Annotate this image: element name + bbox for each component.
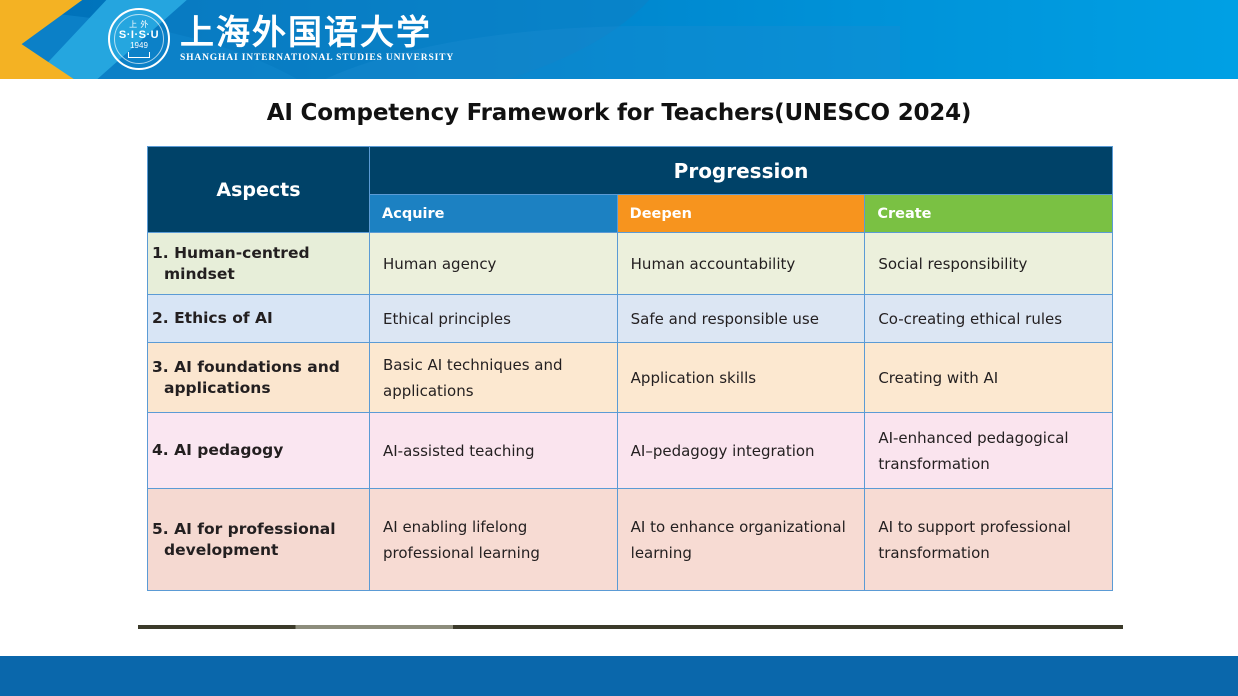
header-aspects: Aspects: [148, 147, 370, 233]
table-header-row-top: Aspects Progression: [148, 147, 1113, 195]
table-row: 2. Ethics of AI Ethical principles Safe …: [148, 295, 1113, 343]
seal-book-icon: [128, 52, 150, 58]
slide-canvas: 上 外 S·I·S·U 1949 上海外国语大学 SHANGHAI INTERN…: [0, 0, 1238, 696]
university-logo: 上 外 S·I·S·U 1949 上海外国语大学 SHANGHAI INTERN…: [108, 8, 454, 70]
header-level-create: Create: [865, 195, 1113, 233]
row-cell-deepen: Application skills: [617, 343, 865, 413]
framework-table-container: Aspects Progression Acquire Deepen Creat…: [147, 146, 1113, 591]
row-cell-acquire: Human agency: [370, 233, 618, 295]
row-cell-deepen: Human accountability: [617, 233, 865, 295]
row-aspect-label: 4. AI pedagogy: [148, 413, 370, 489]
page-title: AI Competency Framework for Teachers(UNE…: [0, 100, 1238, 126]
seal-top-text: 上 外: [129, 20, 149, 29]
university-name-cn: 上海外国语大学: [180, 14, 454, 52]
footer-bar: [0, 656, 1238, 696]
row-cell-deepen: AI–pedagogy integration: [617, 413, 865, 489]
table-row: 5. AI for professional development AI en…: [148, 489, 1113, 591]
row-cell-acquire: Basic AI techniques and applications: [370, 343, 618, 413]
header-level-deepen: Deepen: [617, 195, 865, 233]
header-level-acquire: Acquire: [370, 195, 618, 233]
university-name-en: SHANGHAI INTERNATIONAL STUDIES UNIVERSIT…: [180, 52, 454, 64]
table-row: 1. Human-centred mindset Human agency Hu…: [148, 233, 1113, 295]
top-banner: 上 外 S·I·S·U 1949 上海外国语大学 SHANGHAI INTERN…: [0, 0, 1238, 79]
row-cell-deepen: AI to enhance organizational learning: [617, 489, 865, 591]
university-name-block: 上海外国语大学 SHANGHAI INTERNATIONAL STUDIES U…: [180, 14, 454, 64]
row-cell-deepen: Safe and responsible use: [617, 295, 865, 343]
header-progression: Progression: [370, 147, 1113, 195]
row-cell-create: Creating with AI: [865, 343, 1113, 413]
university-seal-icon: 上 外 S·I·S·U 1949: [108, 8, 170, 70]
row-cell-create: AI to support professional transformatio…: [865, 489, 1113, 591]
framework-table: Aspects Progression Acquire Deepen Creat…: [147, 146, 1113, 591]
row-aspect-label: 1. Human-centred mindset: [148, 233, 370, 295]
row-cell-create: AI-enhanced pedagogical transformation: [865, 413, 1113, 489]
row-cell-acquire: AI enabling lifelong professional learni…: [370, 489, 618, 591]
decorative-rule: [138, 625, 1123, 629]
row-cell-acquire: AI-assisted teaching: [370, 413, 618, 489]
table-row: 4. AI pedagogy AI-assisted teaching AI–p…: [148, 413, 1113, 489]
row-aspect-label: 5. AI for professional development: [148, 489, 370, 591]
row-cell-create: Social responsibility: [865, 233, 1113, 295]
seal-mid-text: S·I·S·U: [119, 29, 159, 41]
row-aspect-label: 2. Ethics of AI: [148, 295, 370, 343]
seal-year-text: 1949: [130, 41, 148, 51]
row-cell-create: Co-creating ethical rules: [865, 295, 1113, 343]
table-row: 3. AI foundations and applications Basic…: [148, 343, 1113, 413]
row-aspect-label: 3. AI foundations and applications: [148, 343, 370, 413]
row-cell-acquire: Ethical principles: [370, 295, 618, 343]
